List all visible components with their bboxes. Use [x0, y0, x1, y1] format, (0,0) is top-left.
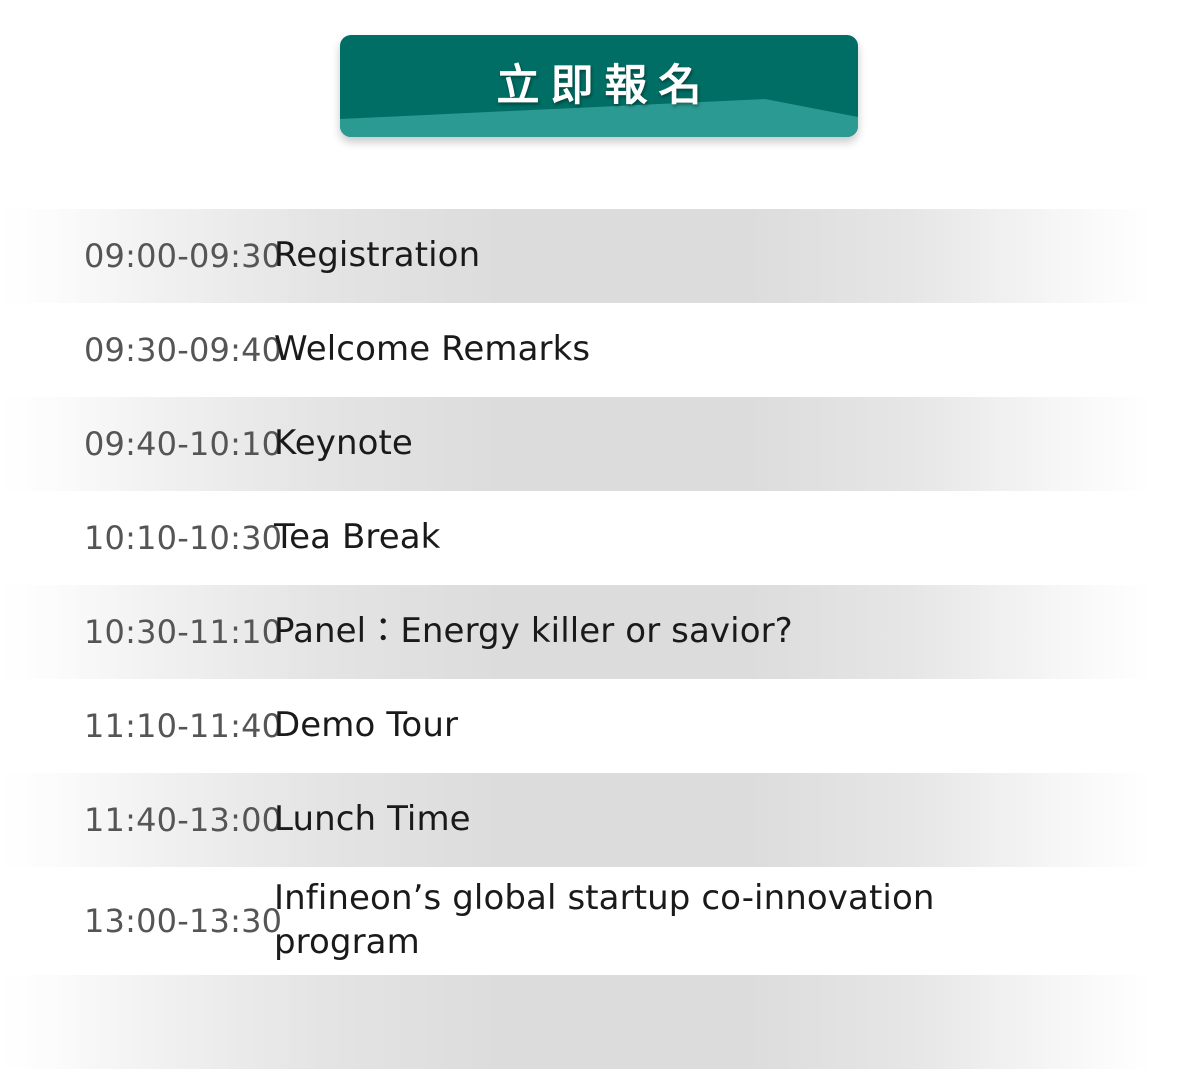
table-row: 10:10-10:30 Tea Break	[0, 491, 1200, 585]
row-title: Welcome Remarks	[274, 328, 1200, 372]
row-title: Tea Break	[274, 516, 1200, 560]
table-row: 13:00-13:30 Infineon’s global startup co…	[0, 867, 1200, 975]
row-time: 09:40-10:10	[0, 425, 274, 463]
row-time: 11:40-13:00	[0, 801, 274, 839]
register-now-button[interactable]: 立即報名	[340, 35, 858, 137]
row-title: Panel：Energy killer or savior?	[274, 610, 1200, 654]
row-time: 11:10-11:40	[0, 707, 274, 745]
row-title: Lunch Time	[274, 798, 1200, 842]
row-title: Infineon’s global startup co-innovation …	[274, 877, 1200, 964]
agenda-page: 立即報名 09:00-09:30 Registration 09:30-09:4…	[0, 0, 1200, 1001]
table-row	[0, 975, 1200, 1069]
register-button-container: 立即報名	[340, 35, 858, 137]
table-row: 09:40-10:10 Keynote	[0, 397, 1200, 491]
table-row: 10:30-11:10 Panel：Energy killer or savio…	[0, 585, 1200, 679]
row-time: 09:30-09:40	[0, 331, 274, 369]
register-now-label: 立即報名	[340, 35, 858, 137]
row-time: 10:10-10:30	[0, 519, 274, 557]
row-time: 09:00-09:30	[0, 237, 274, 275]
row-title: Keynote	[274, 422, 1200, 466]
table-row: 11:40-13:00 Lunch Time	[0, 773, 1200, 867]
row-title-text: Infineon’s global startup co-innovation …	[274, 877, 1004, 964]
table-row: 09:30-09:40 Welcome Remarks	[0, 303, 1200, 397]
row-time: 10:30-11:10	[0, 613, 274, 651]
agenda-table: 09:00-09:30 Registration 09:30-09:40 Wel…	[0, 209, 1200, 1069]
table-row: 09:00-09:30 Registration	[0, 209, 1200, 303]
row-title: Registration	[274, 234, 1200, 278]
row-time: 13:00-13:30	[0, 902, 274, 940]
table-row: 11:10-11:40 Demo Tour	[0, 679, 1200, 773]
row-title: Demo Tour	[274, 704, 1200, 748]
